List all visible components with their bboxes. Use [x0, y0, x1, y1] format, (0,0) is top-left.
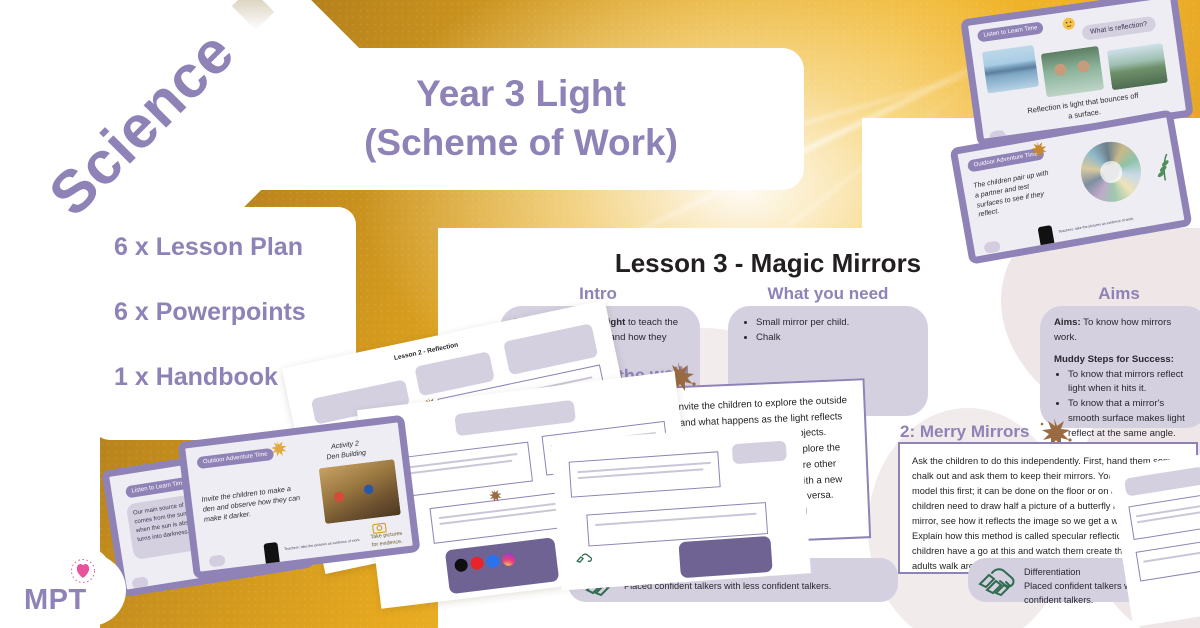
slide-footnote: Teachers: take the pictures as evidence … [1058, 211, 1167, 234]
lake-photo [982, 45, 1039, 94]
contents-item-lesson-plan: 6 x Lesson Plan [114, 233, 356, 262]
forest-lake-photo [1107, 43, 1168, 90]
doc-box [569, 451, 721, 497]
doc-box [1136, 537, 1200, 582]
instagram-icon[interactable] [502, 552, 516, 566]
leaf-sprig [1151, 153, 1175, 182]
phone-device [263, 542, 280, 566]
slide-chip-listen-to-learn: Listen to Learn Time [977, 21, 1044, 42]
slide-question: What is reflection? [1081, 16, 1156, 41]
mpt-mini-logo [131, 576, 149, 589]
aims-panel: Aims: To know how mirrors work. Muddy St… [1040, 306, 1200, 428]
thinking-face-emoji [1060, 15, 1078, 33]
brand-logo: MPT [14, 548, 132, 628]
doc-pill [732, 441, 787, 465]
page-title-line1: Year 3 Light [364, 70, 678, 119]
phone-device [1038, 225, 1056, 249]
need-item: Chalk [756, 331, 914, 346]
heart-icon [70, 558, 96, 584]
paint-splat-icon [486, 487, 506, 505]
success-item: To know that mirrors reflect light when … [1068, 368, 1194, 398]
title-card: Year 3 Light (Scheme of Work) [238, 48, 804, 190]
tiktok-icon[interactable] [454, 558, 468, 572]
handshake-icon [575, 550, 594, 567]
youtube-icon[interactable] [470, 556, 484, 570]
doc-pill [454, 400, 576, 436]
girl-mirror-photo [1041, 46, 1105, 98]
success-label: Muddy Steps for Success: [1054, 354, 1174, 365]
poster-canvas: Science Year 3 Light (Scheme of Work) 6 … [0, 0, 1200, 628]
cd-disc [1076, 137, 1146, 207]
success-item: To know that a mirror's smooth surface m… [1068, 397, 1194, 442]
slide-activity-label: Activity 2 Den Building [310, 437, 382, 465]
what-you-need-heading: What you need [728, 284, 928, 304]
doc-pill [1124, 466, 1200, 496]
mpt-mini-logo [209, 555, 226, 568]
handshake-icon [976, 562, 1018, 598]
paint-splat-icon [1027, 138, 1052, 162]
aims-label: Aims: [1054, 317, 1081, 328]
doc-purple-note [678, 536, 772, 578]
extra-document-thumbnail [551, 423, 811, 590]
contents-item-powerpoints: 6 x Powerpoints [114, 298, 356, 327]
need-item: Small mirror per child. [756, 316, 914, 331]
mpt-mini-logo [983, 240, 1001, 254]
slide-chip-outdoor-adventure: Outdoor Adventure Time [196, 448, 274, 469]
slide-den-building[interactable]: Outdoor Adventure Time Activity 2 Den Bu… [177, 415, 420, 580]
activity2-heading: 2: Merry Mirrors [900, 422, 1029, 442]
facebook-icon[interactable] [486, 554, 500, 568]
den-photo [319, 459, 401, 524]
paint-splat-icon [267, 438, 291, 461]
page-title-line2: (Scheme of Work) [364, 119, 678, 168]
slide-text: The children pair up with a partner and … [973, 165, 1078, 221]
aims-heading: Aims [1038, 284, 1200, 304]
slide-text: Invite the children to make a den and ob… [201, 482, 308, 525]
brand-name: MPT [24, 584, 128, 617]
